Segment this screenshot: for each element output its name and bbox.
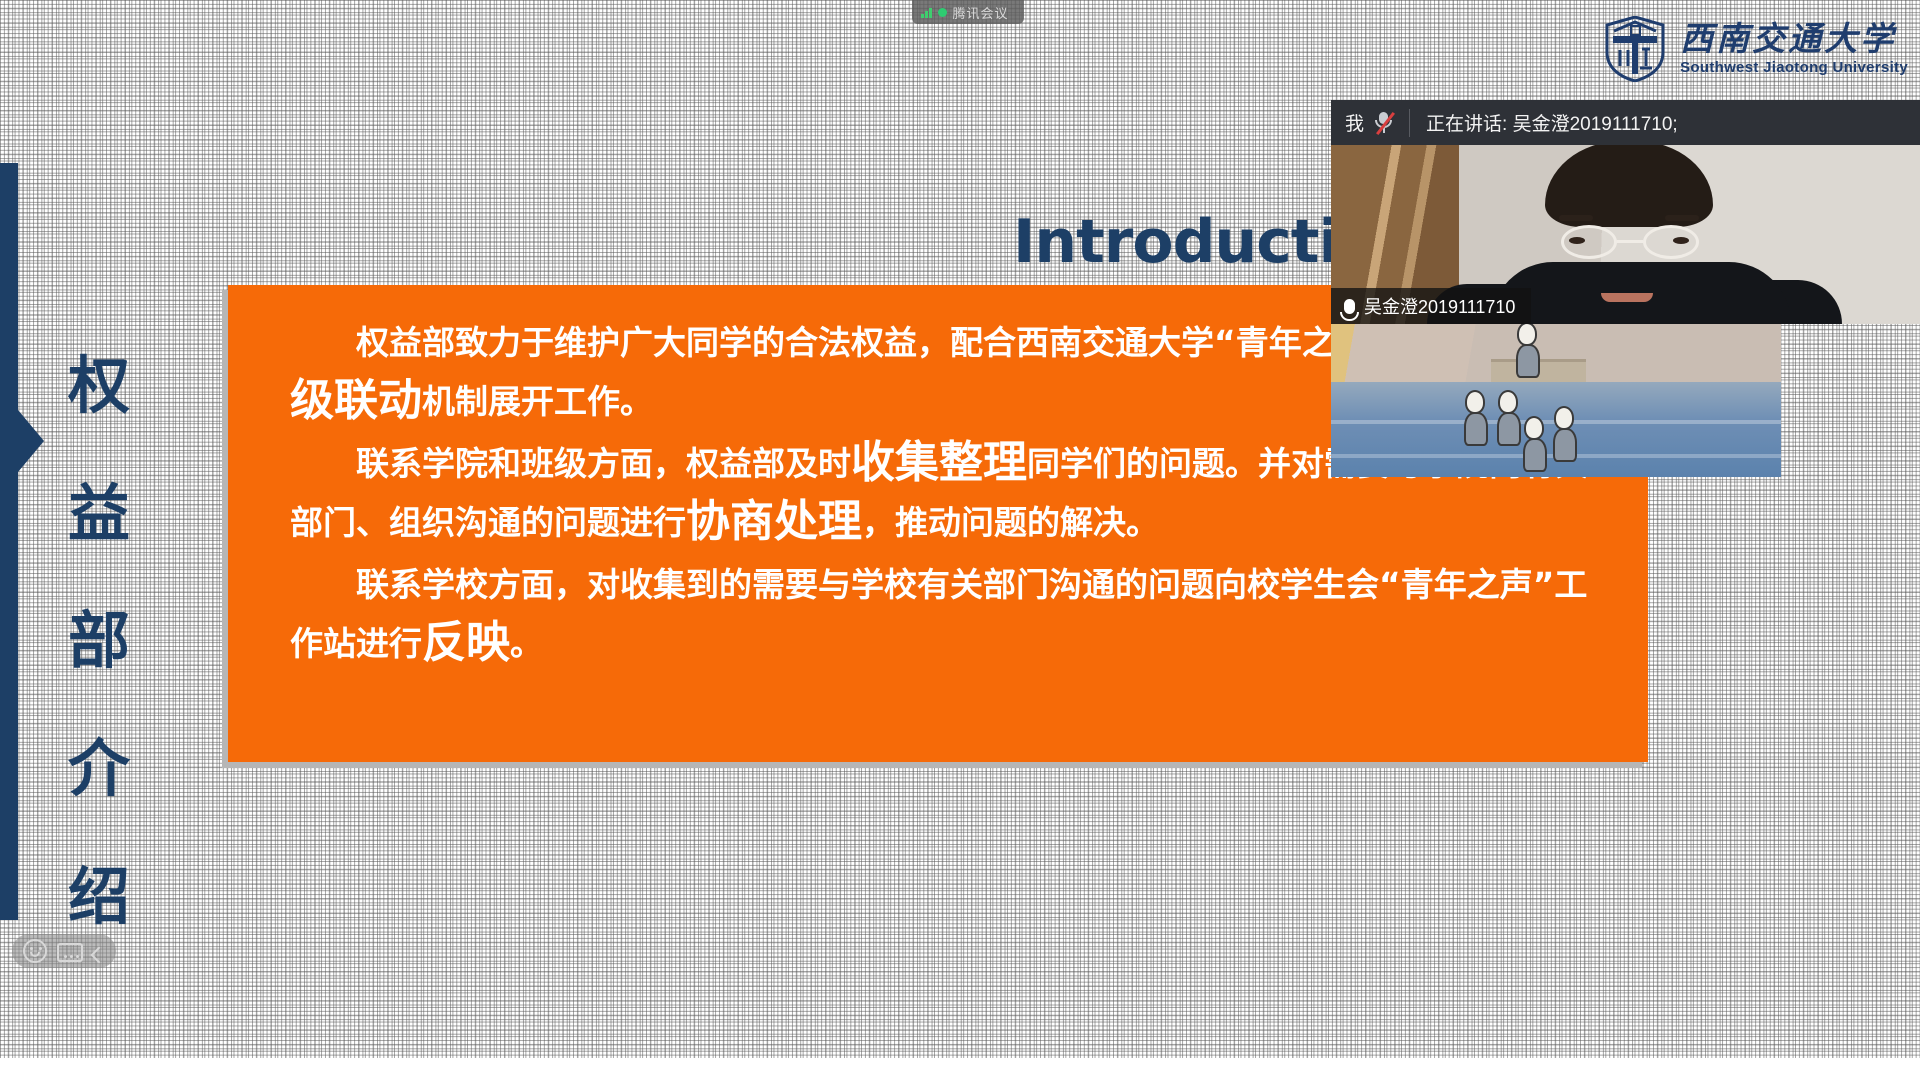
sidebar-title-char-3: 部 xyxy=(60,609,138,673)
figure-body xyxy=(1553,428,1577,462)
university-logo-text: 西南交通大学 Southwest Jiaotong University xyxy=(1680,22,1908,77)
figure-head xyxy=(1465,390,1485,414)
subtitles-icon[interactable] xyxy=(57,943,83,962)
paragraph-1-segment-2: 机制展开工作。 xyxy=(422,382,653,421)
participant-brow-left xyxy=(1559,215,1593,221)
university-logo: 西南交通大学 Southwest Jiaotong University xyxy=(1604,14,1908,84)
meeting-floating-tab[interactable]: 腾讯会议 xyxy=(912,0,1024,24)
meeting-tab-label: 腾讯会议 xyxy=(953,3,1009,22)
university-name-en: Southwest Jiaotong University xyxy=(1680,59,1908,76)
sidebar-accent-bar xyxy=(0,163,18,920)
sidebar-arrow-marker xyxy=(18,410,44,472)
chevron-left-icon[interactable] xyxy=(91,946,108,963)
cartoon-figure-2 xyxy=(1497,390,1519,446)
paragraph-3-emphasis-1: 反映 xyxy=(422,617,510,668)
cartoon-figure-3 xyxy=(1523,416,1545,472)
active-speaker-text: 正在讲话: 吴金澄2019111710; xyxy=(1426,109,1678,136)
participant-mouth xyxy=(1601,293,1653,302)
webcam-panel[interactable]: 我 正在讲话: 吴金澄2019111710; xyxy=(1331,100,1920,324)
figure-body xyxy=(1516,344,1540,378)
status-divider xyxy=(1409,109,1410,137)
paragraph-2-segment-1: 联系学院和班级方面，权益部及时 xyxy=(356,444,851,483)
paragraph-3-segment-2: 。 xyxy=(510,624,543,663)
body-paragraph-3: 联系学校方面，对收集到的需要与学校有关部门沟通的问题向校学生会“青年之声”工作站… xyxy=(290,555,1618,674)
cartoon-figure-speaker xyxy=(1516,322,1538,378)
presentation-screen: 权 益 部 介 绍 Introduction 权益部致力于维护广大同学的合法权益… xyxy=(0,0,1920,1080)
participant-eye-right xyxy=(1673,237,1689,244)
sidebar-title-char-5: 绍 xyxy=(60,865,138,929)
bottom-strip xyxy=(0,1058,1920,1080)
figure-body xyxy=(1523,438,1547,472)
cartoon-figure-1 xyxy=(1464,390,1486,446)
meeting-status-bar: 我 正在讲话: 吴金澄2019111710; xyxy=(1331,100,1920,145)
sidebar-vertical-title: 权 益 部 介 绍 xyxy=(60,290,138,992)
figure-head xyxy=(1524,416,1544,440)
microphone-muted-icon[interactable] xyxy=(1373,111,1395,135)
participant-brow-right xyxy=(1665,215,1699,221)
participant-eye-left xyxy=(1569,237,1585,244)
figure-head xyxy=(1554,406,1574,430)
sidebar-title-char-2: 益 xyxy=(60,482,138,546)
cartoon-figure-4 xyxy=(1553,406,1575,462)
paragraph-2-segment-3: ，推动问题的解决。 xyxy=(862,503,1159,542)
green-dot-icon xyxy=(938,8,947,17)
university-name-cn: 西南交通大学 xyxy=(1680,22,1908,57)
sidebar-title-char-4: 介 xyxy=(60,737,138,801)
microphone-icon xyxy=(1344,299,1355,314)
participant-head xyxy=(1545,145,1713,324)
university-shield-icon xyxy=(1604,16,1666,82)
figure-body xyxy=(1497,412,1521,446)
figure-head xyxy=(1498,390,1518,414)
sidebar-title-char-1: 权 xyxy=(60,354,138,418)
paragraph-2-emphasis-1: 收集整理 xyxy=(851,437,1027,488)
figure-head xyxy=(1517,322,1537,346)
participant-name-chip: 吴金澄2019111710 xyxy=(1331,288,1531,324)
participant-name: 吴金澄2019111710 xyxy=(1364,293,1515,319)
self-label: 我 xyxy=(1345,109,1364,136)
figure-body xyxy=(1464,412,1488,446)
participant-video-tile[interactable]: 吴金澄2019111710 xyxy=(1331,145,1920,324)
floating-controls-pill[interactable] xyxy=(12,934,116,968)
smiley-face-icon[interactable] xyxy=(23,939,47,963)
signal-bars-icon xyxy=(921,7,932,18)
paragraph-2-emphasis-2: 协商处理 xyxy=(686,496,862,547)
